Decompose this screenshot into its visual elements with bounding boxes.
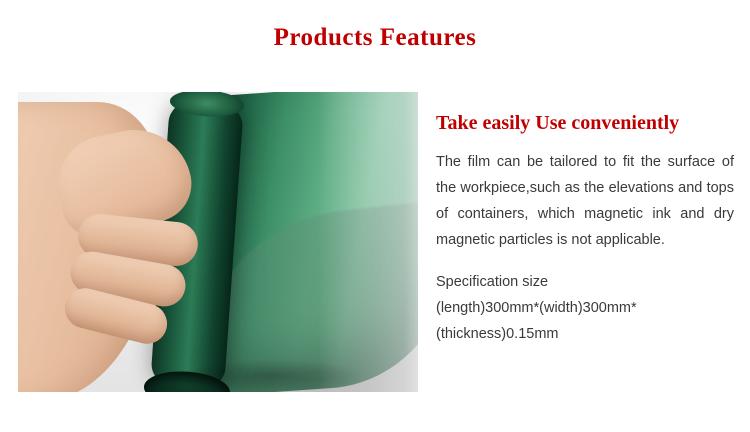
tube-top-opening: [169, 92, 245, 119]
spec-line-2: (thickness)0.15mm: [436, 321, 736, 347]
feature-text-column: Take easily Use conveniently The film ca…: [436, 112, 736, 347]
product-feature-page: Products Features Take easily Use conven…: [0, 0, 750, 432]
page-title: Products Features: [0, 24, 750, 52]
film-fade-edge: [318, 92, 418, 392]
feature-subtitle: Take easily Use conveniently: [436, 112, 736, 135]
feature-description: The film can be tailored to fit the surf…: [436, 149, 734, 253]
product-photo: [18, 92, 418, 392]
spec-line-1: (length)300mm*(width)300mm*: [436, 295, 736, 321]
photo-canvas: [18, 92, 418, 392]
spec-line-0: Specification size: [436, 269, 736, 295]
photo-drop-shadow: [168, 352, 418, 392]
